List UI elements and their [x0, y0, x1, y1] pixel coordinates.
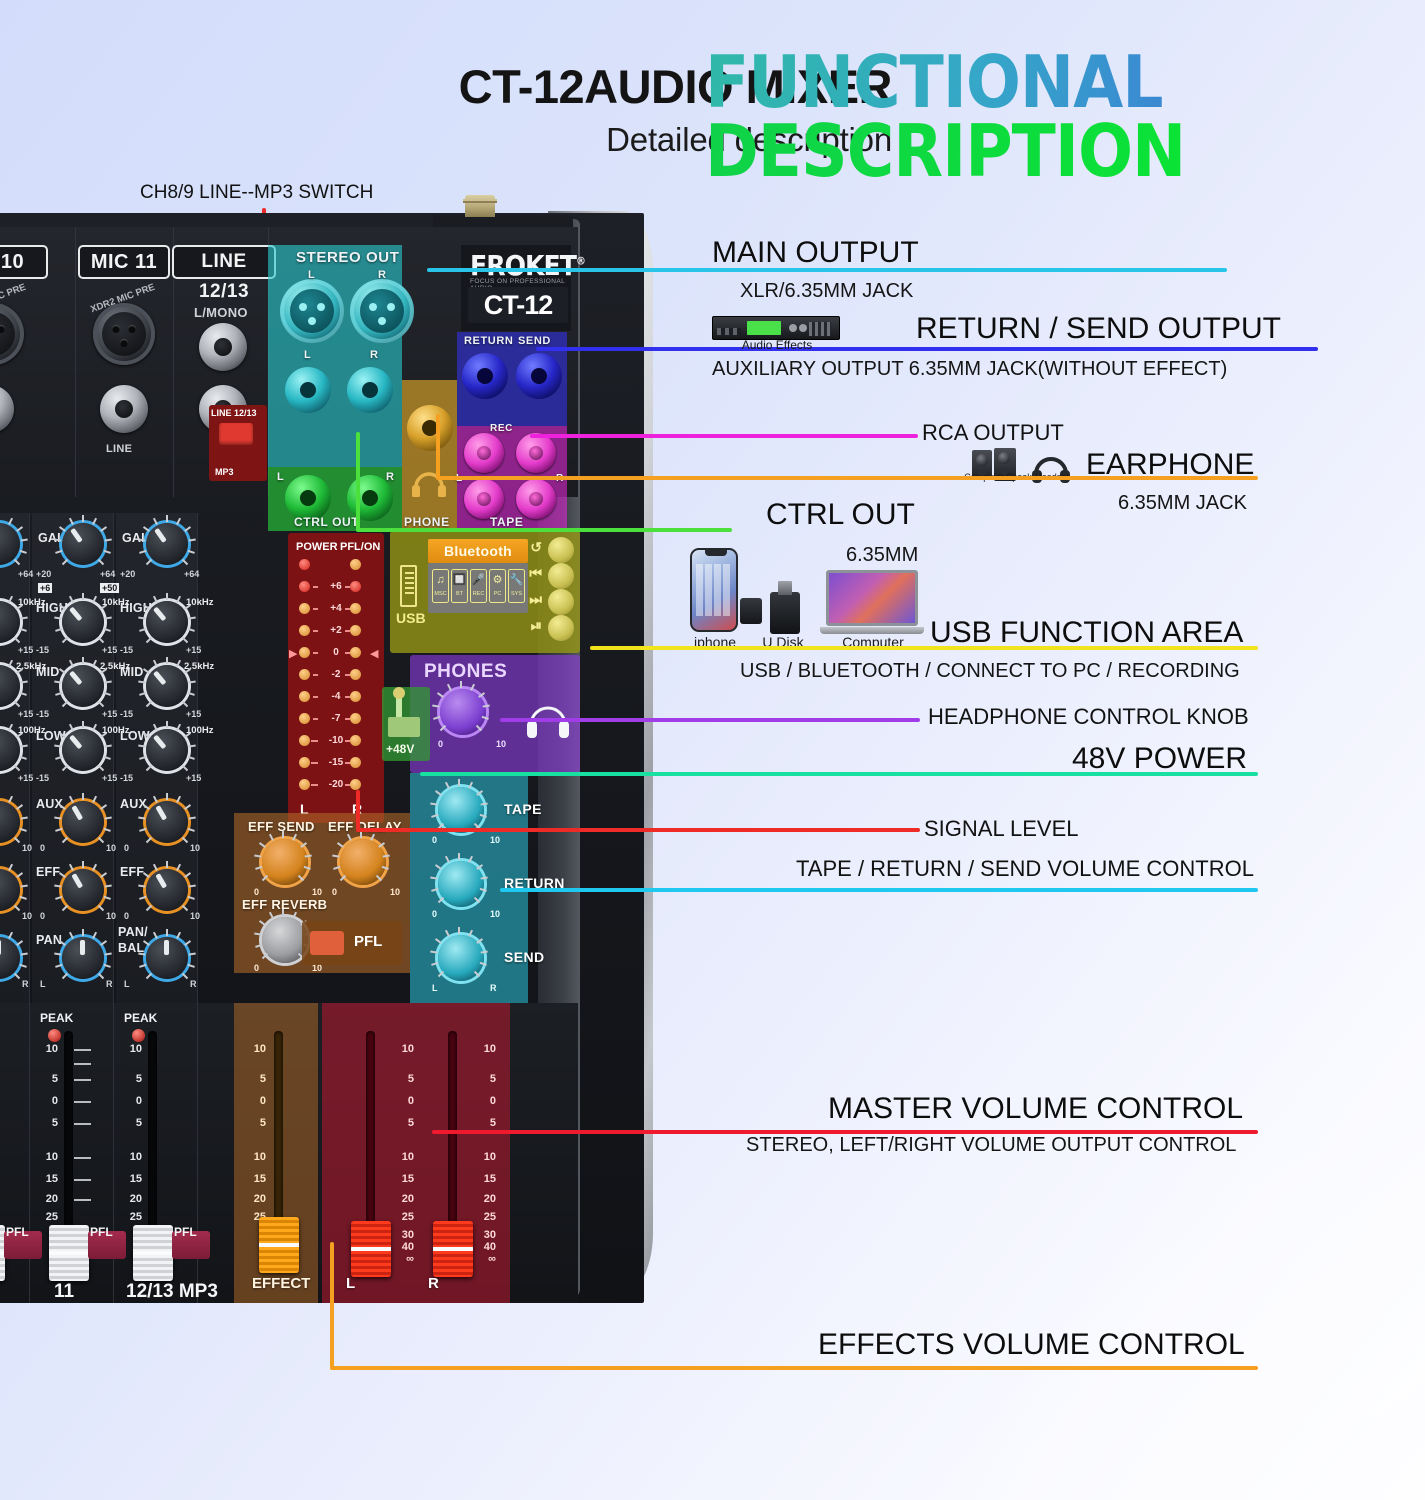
vu-led-l-1 — [299, 603, 310, 614]
fader-l-scale-4: 10 — [394, 1151, 414, 1163]
pan-max-ch11: R — [106, 979, 113, 989]
knob-tick-ring — [146, 937, 188, 979]
xlr-out-left[interactable] — [280, 279, 344, 343]
knob-tick-ring — [0, 601, 20, 643]
high-min-ch11: -15 — [36, 645, 49, 655]
mid-label-ch1213: MID — [120, 665, 144, 679]
stereo-l-xlr-label: L — [308, 269, 315, 281]
callout-title-return-send: RETURN / SEND OUTPUT — [916, 312, 1281, 346]
knob-tick-ring — [146, 869, 188, 911]
mode-icon-msc[interactable]: ♫MSC — [432, 569, 449, 603]
knob-tick-ring — [0, 523, 20, 565]
fader-r-scale-1: 5 — [476, 1073, 496, 1085]
low-knob-ch10[interactable] — [0, 729, 20, 771]
eff-delay-min: 0 — [332, 887, 337, 897]
pfl-master-area: PFL — [302, 921, 402, 965]
fader-scale-11-4: 10 — [38, 1151, 58, 1163]
play-pause-icon: ⏯ — [531, 617, 542, 634]
low-max-ch11: +15 — [102, 773, 117, 783]
send-max: R — [490, 983, 497, 993]
headline-line-2: DESCRIPTION — [705, 117, 1425, 186]
phantom-pad — [388, 717, 420, 737]
fader-l-scale-10: ∞ — [394, 1253, 414, 1265]
repeat-icon: ↺ — [530, 539, 542, 556]
phantom-label: +48V — [386, 742, 414, 756]
bluetooth-title: Bluetooth — [428, 539, 528, 563]
rca-rec-left[interactable] — [464, 433, 504, 473]
eff-reverb-label: EFF REVERB — [242, 897, 327, 912]
stereo-out-trs-right[interactable] — [347, 367, 393, 413]
high-knob-ch1213[interactable] — [146, 601, 188, 643]
fader-eff-scale-1: 5 — [246, 1073, 266, 1085]
tape-knob-label: TAPE — [504, 801, 542, 817]
callout-line-tape-return-send — [500, 888, 1258, 892]
fader-cap-11[interactable] — [49, 1225, 89, 1281]
knob-tick-ring — [262, 917, 304, 959]
audio-effects-rack-icon — [712, 316, 840, 340]
phones-panel: PHONES 0 10 — [410, 655, 580, 773]
high-knob-ch11[interactable] — [62, 601, 104, 643]
eff-label-ch1213: EFF — [120, 865, 144, 879]
callout-sub-return-send: AUXILIARY OUTPUT 6.35MM JACK(WITHOUT EFF… — [712, 358, 1227, 381]
knob-tick-ring — [438, 935, 480, 977]
play-pause-button[interactable] — [548, 615, 574, 641]
lmono-label: L/MONO — [194, 305, 248, 320]
knob-tick-ring — [440, 689, 482, 731]
line-label-ch11: LINE — [106, 443, 132, 455]
fader-eff-scale-5: 15 — [246, 1173, 266, 1185]
eff-send-knob[interactable] — [262, 839, 308, 885]
eff-delay-knob[interactable] — [340, 839, 386, 885]
vu-meter: POWER PFL/ON +6 +4 +2 0 ▶ ◀ -2 — [288, 533, 384, 823]
phantom-lever[interactable] — [396, 693, 402, 719]
fader-l-scale-7: 25 — [394, 1211, 414, 1223]
eff-max-ch10: 10 — [22, 911, 32, 921]
callout-sub-usb-function: USB / BLUETOOTH / CONNECT TO PC / RECORD… — [740, 660, 1240, 683]
knob-tick-ring — [62, 523, 104, 565]
eff-reverb-min: 0 — [254, 963, 259, 973]
knob-tick-ring — [0, 729, 20, 771]
low-knob-ch11[interactable] — [62, 729, 104, 771]
callout-sub-earphone: 6.35MM JACK — [1118, 492, 1247, 515]
fader-l-scale-8: 30 — [394, 1229, 414, 1241]
vu-led-l-9 — [299, 779, 310, 790]
pfl-master-label: PFL — [354, 933, 382, 950]
headphone-icon — [408, 463, 450, 497]
phantom-power-switch[interactable]: +48V — [382, 687, 430, 761]
knob-tick-ring — [62, 729, 104, 771]
vu-power-label: POWER — [296, 541, 338, 553]
fader-scale-1213-2: 0 — [122, 1095, 142, 1107]
callout-vline-signal-level — [356, 790, 360, 832]
low-min-ch1213: -15 — [120, 773, 133, 783]
high-min-ch1213: -15 — [120, 645, 133, 655]
eff-send-min: 0 — [254, 887, 259, 897]
mp3-switch-top-label: LINE 12/13 — [211, 408, 257, 418]
high-freq-ch10: 10kHz — [18, 597, 45, 608]
callout-title-headphone-knob: HEADPHONE CONTROL KNOB — [928, 704, 1249, 730]
knob-tick-ring — [146, 729, 188, 771]
fader-r-scale-6: 20 — [476, 1193, 496, 1205]
fader-eff-scale-0: 10 — [246, 1043, 266, 1055]
ch89-switch-note: CH8/9 LINE--MP3 SWITCH — [140, 182, 373, 204]
high-max-ch1213: +15 — [186, 645, 201, 655]
gain-min2-ch11: +6 — [38, 583, 52, 593]
channel-header-10: C 10 — [0, 245, 48, 279]
low-max-ch1213: +15 — [186, 773, 201, 783]
callout-line-signal-level — [356, 828, 920, 832]
iphone-icon — [690, 548, 738, 632]
fader-scale-11-7: 25 — [38, 1211, 58, 1223]
knob-tick-ring — [62, 665, 104, 707]
fader-r-scale-10: ∞ — [476, 1253, 496, 1265]
phones-max: 10 — [496, 739, 506, 749]
fader-r-scale-5: 15 — [476, 1173, 496, 1185]
aux-max-ch10: 10 — [22, 843, 32, 853]
peak-label-12-13: PEAK — [124, 1011, 157, 1025]
xlr-out-right[interactable] — [350, 279, 414, 343]
usb-label: USB — [396, 610, 426, 626]
fader-eff-scale-4: 10 — [246, 1151, 266, 1163]
fader-l-scale-2: 0 — [394, 1095, 414, 1107]
panbal-max: R — [190, 979, 197, 989]
phone-jack[interactable] — [407, 405, 453, 451]
low-freq-ch10: 100Hz — [18, 725, 45, 736]
high-max-ch10: +15 — [18, 645, 33, 655]
mid-knob-ch1213[interactable] — [146, 665, 188, 707]
vu-arrow-left: ▶ — [289, 647, 297, 660]
knob-tick-ring — [62, 601, 104, 643]
fader-l-scale-0: 10 — [394, 1043, 414, 1055]
usb-port[interactable] — [400, 565, 417, 607]
send-knob-label: SEND — [504, 949, 545, 965]
knob-tick-ring — [146, 665, 188, 707]
fader-scale-1213-1: 5 — [122, 1073, 142, 1085]
fader-r-scale-2: 0 — [476, 1095, 496, 1107]
eff-knob-ch11[interactable] — [62, 869, 104, 911]
mid-freq-ch10: 2.5kHz — [16, 661, 46, 672]
fader-l-scale-6: 20 — [394, 1193, 414, 1205]
stereo-out-label: STEREO OUT — [296, 249, 400, 266]
headphones-icon — [524, 693, 572, 739]
panbal-min: L — [124, 979, 130, 989]
tape-min: 0 — [432, 835, 437, 845]
fader-master-l-label: L — [346, 1275, 355, 1292]
vu-led-l-6 — [299, 713, 310, 724]
next-icon: ⏭ — [529, 591, 542, 608]
fader-scale-11-3: 5 — [38, 1117, 58, 1129]
repeat-button[interactable] — [548, 537, 574, 563]
knob-tick-ring — [62, 801, 104, 843]
callout-line-rca-output — [530, 434, 918, 438]
mid-max-ch11: +15 — [102, 709, 117, 719]
callout-line-return-send — [536, 347, 1318, 351]
knob-tick-ring — [0, 937, 20, 979]
pan-knob-ch10[interactable] — [0, 937, 20, 979]
fader-eff-scale-2: 0 — [246, 1095, 266, 1107]
vu-led-l-3 — [299, 647, 310, 658]
rca-tape-right[interactable] — [516, 479, 556, 519]
mixer-device: C 10 XDR2 MIC PRE LINE MIC 11 XDR2 MIC P… — [0, 213, 678, 1303]
input-panel-ch10: C 10 XDR2 MIC PRE LINE — [0, 227, 76, 497]
knob-tick-ring — [0, 801, 20, 843]
pan-label-ch11: PAN — [36, 933, 62, 947]
line-input-ch10[interactable] — [0, 385, 14, 433]
eff-max-ch1213: 10 — [190, 911, 200, 921]
panbal-label-1: PAN/ — [118, 925, 148, 939]
fader-scale-11-2: 0 — [38, 1095, 58, 1107]
send-knob[interactable] — [438, 935, 484, 981]
pan-min-ch11: L — [40, 979, 46, 989]
fader-l-scale-3: 5 — [394, 1117, 414, 1129]
headline-line-1: FUNCTIONAL — [705, 48, 1425, 117]
gain-max-ch1213: +64 — [184, 569, 199, 579]
previous-icon: ⏮ — [529, 565, 542, 582]
vu-led-l-5 — [299, 691, 310, 702]
fader-r-scale-9: 40 — [476, 1241, 496, 1253]
callout-sub-master-volume: STEREO, LEFT/RIGHT VOLUME OUTPUT CONTROL — [746, 1134, 1236, 1157]
phones-title: PHONES — [424, 661, 507, 683]
fader-eff-scale-3: 5 — [246, 1117, 266, 1129]
infographic-canvas: CT-12AUDIO MIXER Detailed description FU… — [0, 0, 1425, 1500]
fader-scale-11-6: 20 — [38, 1193, 58, 1205]
rca-tape-left[interactable] — [464, 479, 504, 519]
fader-scale-1213-4: 10 — [122, 1151, 142, 1163]
mp3-switch-slider[interactable] — [219, 423, 253, 445]
callout-vline-earphone — [436, 414, 440, 480]
tape-max: 10 — [490, 835, 500, 845]
fader-scale-11-0: 10 — [38, 1043, 58, 1055]
fader-l-scale-5: 15 — [394, 1173, 414, 1185]
knob-tick-ring — [0, 869, 20, 911]
phones-volume-knob[interactable] — [440, 689, 486, 735]
fader-r-scale-7: 25 — [476, 1211, 496, 1223]
usb-bluetooth-panel: Bluetooth USB ♫MSC 🔲BT 🎤REC ⚙PC 🔧SYS ↺ ⏮… — [390, 531, 580, 653]
fader-master-r-label: R — [428, 1275, 439, 1292]
gain-min-ch11: +20 — [36, 569, 51, 579]
computer-icon — [820, 570, 924, 636]
peak-led-12-13 — [132, 1029, 145, 1042]
fader-r-scale-0: 10 — [476, 1043, 496, 1055]
rca-rec-right[interactable] — [516, 433, 556, 473]
aux-min-ch11: 0 — [40, 843, 45, 853]
callout-title-ctrl-out: CTRL OUT — [766, 498, 915, 532]
fader-cap-master-l[interactable] — [351, 1221, 391, 1277]
callout-title-usb-function: USB FUNCTION AREA — [930, 616, 1243, 650]
mode-icon-bt[interactable]: 🔲BT — [451, 569, 468, 603]
effects-panel: EFF SEND 0 10 EFF DELAY 0 10 EFF REVERB … — [234, 813, 410, 973]
mode-icon-pc[interactable]: ⚙PC — [489, 569, 506, 603]
fader-r-scale-8: 30 — [476, 1229, 496, 1241]
callout-vline-ctrl-out — [356, 432, 360, 532]
pfl-label-12-13: PFL — [174, 1225, 197, 1239]
low-min-ch11: -15 — [36, 773, 49, 783]
pfl-label-11: PFL — [90, 1225, 113, 1239]
fader-cap-master-r[interactable] — [433, 1221, 473, 1277]
send-label: SEND — [518, 335, 551, 347]
fader-channel-label-12-13: 12/13 MP3 — [126, 1281, 218, 1303]
xlr-input-ch11[interactable] — [93, 303, 155, 365]
eff-knob-ch1213[interactable] — [146, 869, 188, 911]
return-knob[interactable] — [438, 861, 484, 907]
fader-eff-scale-6: 20 — [246, 1193, 266, 1205]
vu-arrow-right: ◀ — [370, 647, 378, 660]
tape-label: TAPE — [490, 515, 524, 529]
pfl-led — [350, 559, 361, 570]
previous-button[interactable] — [548, 563, 574, 589]
fader-scale-1213-0: 10 — [122, 1043, 142, 1055]
u-disk-cap-icon — [740, 598, 762, 624]
return-jack[interactable] — [462, 353, 508, 399]
gain-max2-ch11: +50 — [100, 583, 119, 593]
high-knob-ch10[interactable] — [0, 601, 20, 643]
knob-tick-ring — [62, 937, 104, 979]
callout-title-rca-output: RCA OUTPUT — [922, 420, 1064, 446]
stereo-out-trs-left[interactable] — [285, 367, 331, 413]
send-min: L — [432, 983, 438, 993]
aux-max-ch1213: 10 — [190, 843, 200, 853]
fader-r-scale-4: 10 — [476, 1151, 496, 1163]
gain-max-ch10: +64 — [18, 569, 33, 579]
fader-section: 10 PFL PEAK 10 5 0 5 10 15 20 25 11 PFL … — [0, 1003, 578, 1303]
model-name: CT-12 — [468, 287, 568, 323]
callout-line-effects-volume — [330, 1366, 1258, 1370]
mid-min-ch11: -15 — [36, 709, 49, 719]
knob-tick-ring — [146, 601, 188, 643]
callout-title-effects-volume: EFFECTS VOLUME CONTROL — [818, 1328, 1245, 1362]
knob-tick-ring — [438, 787, 480, 829]
mode-icon-rec[interactable]: 🎤REC — [470, 569, 487, 603]
aux-knob-ch1213[interactable] — [146, 801, 188, 843]
fader-l-scale-1: 5 — [394, 1073, 414, 1085]
knob-tick-ring — [438, 861, 480, 903]
fader-cap-12-13[interactable] — [133, 1225, 173, 1281]
xlr-input-ch10[interactable] — [0, 303, 24, 365]
eff-min-ch1213: 0 — [124, 911, 129, 921]
phones-min: 0 — [438, 739, 443, 749]
ctrl-l-label: L — [277, 471, 284, 483]
tape-knob[interactable] — [438, 787, 484, 833]
return-max: 10 — [490, 909, 500, 919]
gain-knob-ch10[interactable] — [0, 523, 20, 565]
next-button[interactable] — [548, 589, 574, 615]
eff-delay-max: 10 — [390, 887, 400, 897]
gain-knob-ch11[interactable] — [62, 523, 104, 565]
stereo-l-trs-label: L — [304, 349, 311, 361]
zone-phone — [402, 380, 457, 531]
vu-led-l-0 — [299, 581, 310, 592]
low-knob-ch1213[interactable] — [146, 729, 188, 771]
six35mm-note: 6.35MM — [846, 544, 918, 567]
return-min: 0 — [432, 909, 437, 919]
audio-effects-icon-label: Audio Effects — [714, 338, 840, 352]
callout-title-main-output: MAIN OUTPUT — [712, 236, 919, 270]
fader-scale-11-5: 15 — [38, 1173, 58, 1185]
stereo-r-xlr-label: R — [378, 269, 387, 281]
vu-led-l-8 — [299, 757, 310, 768]
u-disk-icon — [770, 592, 800, 634]
aux-knob-ch10[interactable] — [0, 801, 20, 843]
line-input-ch11[interactable] — [100, 385, 148, 433]
pan-knob-ch11[interactable] — [62, 937, 104, 979]
fader-l-scale-9: 40 — [394, 1241, 414, 1253]
ctrl-r-label: R — [386, 471, 395, 483]
peak-label-11: PEAK — [40, 1011, 73, 1025]
knob-tick-ring — [262, 839, 304, 881]
channel-header-11: MIC 11 — [78, 245, 170, 279]
eff-min-ch11: 0 — [40, 911, 45, 921]
high-max-ch11: +15 — [102, 645, 117, 655]
vu-led-l-7 — [299, 735, 310, 746]
pfl-label-10: PFL — [6, 1225, 29, 1239]
eff-max-ch11: 10 — [106, 911, 116, 921]
antenna-knob — [465, 195, 495, 217]
eff-send-max: 10 — [312, 887, 322, 897]
fader-scale-1213-6: 20 — [122, 1193, 142, 1205]
gain-knob-ch1213[interactable] — [146, 523, 188, 565]
low-freq-ch1213: 100Hz — [186, 725, 213, 736]
header-right: FUNCTIONAL DESCRIPTION — [705, 48, 1425, 186]
rec-label: REC — [490, 423, 513, 434]
knob-tick-ring — [62, 869, 104, 911]
input-panel-ch11: MIC 11 XDR2 MIC PRE LINE — [76, 227, 174, 497]
callout-line-ctrl-out — [356, 528, 732, 532]
fader-scale-1213-5: 15 — [122, 1173, 142, 1185]
eff-knob-ch10[interactable] — [0, 869, 20, 911]
line-input-lmono[interactable] — [199, 323, 247, 371]
fader-r-scale-3: 5 — [476, 1117, 496, 1129]
mid-min-ch1213: -15 — [120, 709, 133, 719]
fader-scale-1213-7: 25 — [122, 1211, 142, 1223]
vu-pfl-label: PFL/ON — [340, 541, 380, 553]
gain-min-ch1213: +20 — [120, 569, 135, 579]
mode-icon-sys[interactable]: 🔧SYS — [508, 569, 525, 603]
return-label: RETURN — [464, 335, 513, 347]
pfl-master-button[interactable] — [310, 931, 344, 955]
fader-scale-1213-3: 5 — [122, 1117, 142, 1129]
mp3-switch-bottom-label: MP3 — [215, 467, 234, 477]
callout-title-signal-level: SIGNAL LEVEL — [924, 816, 1078, 842]
channel-header-12-13: LINE 12/13 — [172, 245, 276, 279]
vu-led-l-2 — [299, 625, 310, 636]
aux-knob-ch11[interactable] — [62, 801, 104, 843]
power-led — [299, 559, 310, 570]
mid-knob-ch11[interactable] — [62, 665, 104, 707]
fader-cap-effect[interactable] — [259, 1217, 299, 1273]
aux-min-ch1213: 0 — [124, 843, 129, 853]
pan-max-ch10: R — [22, 979, 29, 989]
high-freq-ch1213: 10kHz — [186, 597, 213, 608]
callout-title-master-volume: MASTER VOLUME CONTROL — [828, 1092, 1243, 1126]
callout-sub-main-output: XLR/6.35MM JACK — [740, 280, 913, 303]
send-jack[interactable] — [516, 353, 562, 399]
bluetooth-display: ♫MSC 🔲BT 🎤REC ⚙PC 🔧SYS — [428, 563, 528, 613]
panbal-knob-ch1213[interactable] — [146, 937, 188, 979]
vu-led-l-4 — [299, 669, 310, 680]
aux-max-ch11: 10 — [106, 843, 116, 853]
ctrl-out-label: CTRL OUT — [294, 515, 359, 529]
knob-tick-ring — [340, 839, 382, 881]
fader-effect-label: EFFECT — [252, 1275, 310, 1292]
callout-title-tape-return-send: TAPE / RETURN / SEND VOLUME CONTROL — [796, 856, 1254, 882]
callout-title-earphone: EARPHONE — [1086, 448, 1254, 482]
callout-title-48v-power: 48V POWER — [1072, 742, 1247, 776]
phone-label: PHONE — [404, 515, 450, 529]
gain-max-ch11: +64 — [100, 569, 115, 579]
fader-scale-11-1: 5 — [38, 1073, 58, 1085]
knob-tick-ring — [146, 801, 188, 843]
line-mp3-switch[interactable]: LINE 12/13 MP3 — [209, 405, 267, 481]
